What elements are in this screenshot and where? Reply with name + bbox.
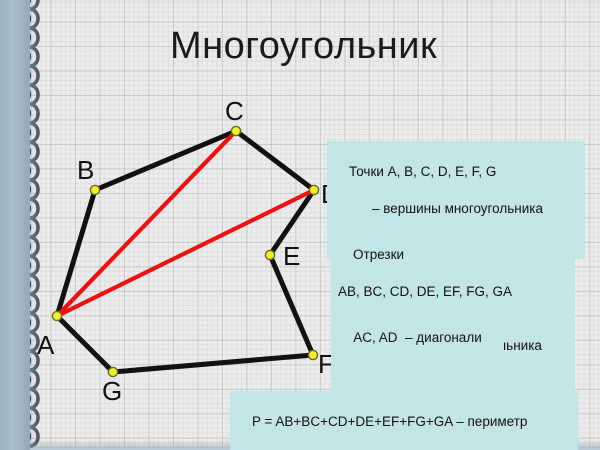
vertex-label-c: C [225,98,244,124]
vertex-dot-b [90,185,99,194]
callout-perimeter: P = AB+BC+CD+DE+EF+FG+GA – периметр [230,391,578,450]
callout-vertices-line2: – вершины многоугольника [334,200,578,218]
callout-vertices-line1: Точки A, B, C, D, E, F, G [349,164,496,179]
vertex-label-e: E [283,243,300,269]
vertex-dot-f [308,350,317,359]
vertex-label-g: G [102,378,122,404]
diagonal-ad [57,190,314,316]
vertex-dot-d [309,185,318,194]
vertex-label-a: A [37,332,54,358]
vertex-dot-e [265,250,274,259]
callout-perimeter-line1: P = AB+BC+CD+DE+EF+FG+GA – периметр [252,414,527,429]
vertex-label-b: B [77,157,94,183]
callout-diagonals: AC, AD – диагонали [332,307,504,371]
vertex-dot-a [52,311,61,320]
callout-diagonals-line1: AC, AD – диагонали [353,330,481,345]
vertex-dot-c [231,126,240,135]
callout-sides-line2: AB, BC, CD, DE, EF, FG, GA [338,283,568,301]
callout-sides-line1: Отрезки [353,247,404,262]
slide-canvas: Многоугольник ABCDEFG Точки A, B, C, D, … [0,0,600,450]
